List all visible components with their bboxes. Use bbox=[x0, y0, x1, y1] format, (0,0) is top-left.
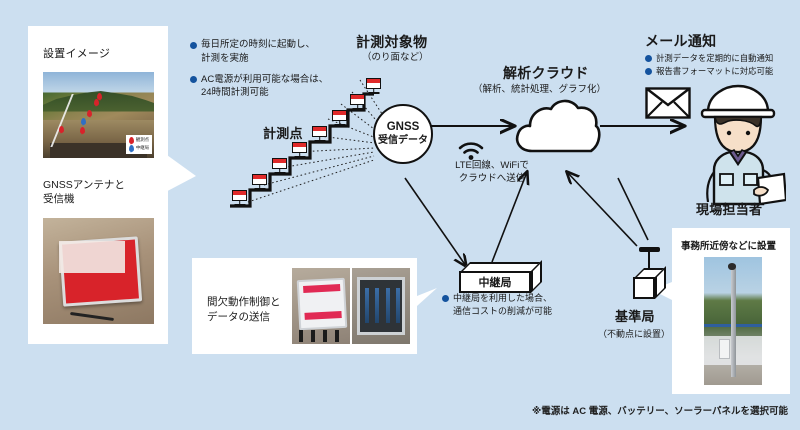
legend-label-observation-point: 観測点 bbox=[136, 137, 149, 144]
diagram-canvas: 設置イメージ 観測点 中継局 GNSSアンテナと 受信機 毎日所定の時刻に起動し… bbox=[0, 0, 800, 430]
field-staff-label: 現場担当者 bbox=[696, 203, 762, 218]
measurement-sensor bbox=[350, 94, 365, 105]
relay-station-label: 中継局 bbox=[459, 271, 531, 293]
sensor-group bbox=[228, 66, 374, 208]
base-station-pole bbox=[648, 251, 650, 269]
control-panel-label: 間欠動作制御と データの送信 bbox=[207, 295, 281, 324]
measurement-sensor bbox=[272, 158, 287, 169]
slope-installation-photo: 観測点 中継局 bbox=[43, 72, 154, 158]
map-pin-blue-icon bbox=[129, 145, 134, 152]
target-object-subtitle: （のり面など） bbox=[362, 53, 429, 64]
transmission-caption-line1: LTE回線、WiFiで bbox=[437, 160, 547, 173]
controller-closed-photo bbox=[292, 268, 350, 344]
cloud-title: 解析クラウド bbox=[503, 65, 589, 81]
power-source-note: ※電源は AC 電源、バッテリー、ソーラーパネルを選択可能 bbox=[532, 403, 788, 417]
antenna-receiver-label-line1: GNSSアンテナと bbox=[43, 178, 125, 192]
photo-legend: 観測点 中継局 bbox=[126, 135, 152, 154]
mail-bullet-0: 計測データを定期的に自動通知 bbox=[645, 52, 795, 65]
transmission-caption-line2: クラウドへ送信 bbox=[437, 173, 547, 186]
gnss-data-node: GNSS 受信データ bbox=[373, 104, 433, 164]
base-station-cube bbox=[633, 268, 673, 308]
gnss-node-line1: GNSS bbox=[387, 121, 420, 135]
cloud-subtitle: （解析、統計処理、グラフ化） bbox=[473, 85, 606, 96]
base-cube-front bbox=[633, 277, 655, 299]
cloud-icon bbox=[512, 96, 602, 156]
measurement-sensor bbox=[252, 174, 267, 185]
map-pin-red-icon bbox=[129, 137, 134, 144]
wifi-icon bbox=[457, 140, 485, 160]
measurement-sensor bbox=[232, 190, 247, 201]
relay-note-text: 中継局を利用した場合、 通信コストの削減が可能 bbox=[442, 292, 602, 318]
operation-bullet-0: 毎日所定の時刻に起動し、 計測を実施 bbox=[190, 38, 340, 66]
measurement-sensor bbox=[312, 126, 327, 137]
mail-bullet-1: 報告書フォーマットに対応可能 bbox=[645, 65, 795, 78]
base-station-label: 基準局 bbox=[615, 310, 655, 325]
office-pole-photo bbox=[704, 257, 762, 385]
measurement-sensor bbox=[332, 110, 347, 121]
mail-notification-bullets: 計測データを定期的に自動通知 報告書フォーマットに対応可能 bbox=[645, 52, 795, 77]
envelope-icon bbox=[645, 87, 691, 119]
gnss-receiver-photo bbox=[43, 218, 154, 324]
base-station-sublabel: （不動点に設置） bbox=[598, 327, 670, 340]
controller-open-photo bbox=[352, 268, 410, 344]
transmission-caption: LTE回線、WiFiで クラウドへ送信 bbox=[437, 160, 547, 186]
office-panel-caption: 事務所近傍などに設置 bbox=[681, 238, 776, 252]
antenna-receiver-label: GNSSアンテナと 受信機 bbox=[43, 178, 125, 206]
control-panel-label-line1: 間欠動作制御と bbox=[207, 295, 281, 310]
antenna-receiver-label-line2: 受信機 bbox=[43, 192, 125, 206]
legend-label-relay-station: 中継局 bbox=[136, 145, 149, 152]
target-object-title: 計測対象物 bbox=[356, 34, 427, 50]
relay-station-note: 中継局を利用した場合、 通信コストの削減が可能 bbox=[442, 292, 602, 318]
control-panel-label-line2: データの送信 bbox=[207, 310, 281, 325]
worker-icon bbox=[686, 78, 786, 206]
mail-notification-title: メール通知 bbox=[645, 33, 716, 49]
install-image-label: 設置イメージ bbox=[43, 48, 110, 61]
measurement-sensor bbox=[366, 78, 381, 89]
measurement-sensor bbox=[292, 142, 307, 153]
gnss-node-line2: 受信データ bbox=[378, 135, 428, 147]
